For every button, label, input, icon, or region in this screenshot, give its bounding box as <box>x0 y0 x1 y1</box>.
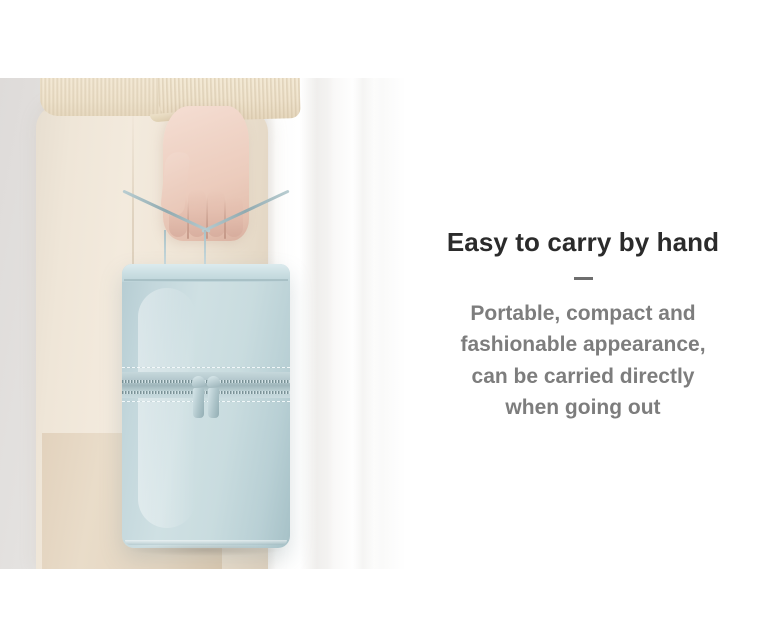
curtain-fold <box>300 78 334 569</box>
hand <box>163 106 249 241</box>
zipper-pull-right <box>207 376 220 418</box>
stitch-line-top <box>122 367 290 368</box>
bag-lid-edge <box>124 279 288 281</box>
zipper-pull-left <box>192 376 205 418</box>
divider-dash <box>574 277 593 280</box>
zipper-pull-tab <box>193 388 204 418</box>
subcopy-line: when going out <box>418 392 748 424</box>
subcopy: Portable, compact and fashionable appear… <box>418 298 748 424</box>
subcopy-line: Portable, compact and <box>418 298 748 330</box>
zipper-teeth-bottom <box>122 391 290 394</box>
cosmetic-bag <box>118 226 294 556</box>
headline: Easy to carry by hand <box>447 228 719 257</box>
bag-body <box>122 264 290 548</box>
zipper-pull-head <box>207 376 220 387</box>
product-photo <box>0 78 406 569</box>
zipper-pull-head <box>192 376 205 387</box>
text-panel: Easy to carry by hand Portable, compact … <box>406 0 760 641</box>
curtain-fold <box>352 78 374 569</box>
bag-shadow <box>130 544 282 556</box>
bag-highlight <box>138 288 196 528</box>
zipper-teeth-top <box>122 380 290 383</box>
zipper-band <box>122 372 290 398</box>
product-feature-banner: Easy to carry by hand Portable, compact … <box>0 0 760 641</box>
subcopy-line: fashionable appearance, <box>418 329 748 361</box>
stitch-line-bottom <box>122 401 290 402</box>
zipper-pull-tab <box>208 388 219 418</box>
subcopy-line: can be carried directly <box>418 361 748 393</box>
